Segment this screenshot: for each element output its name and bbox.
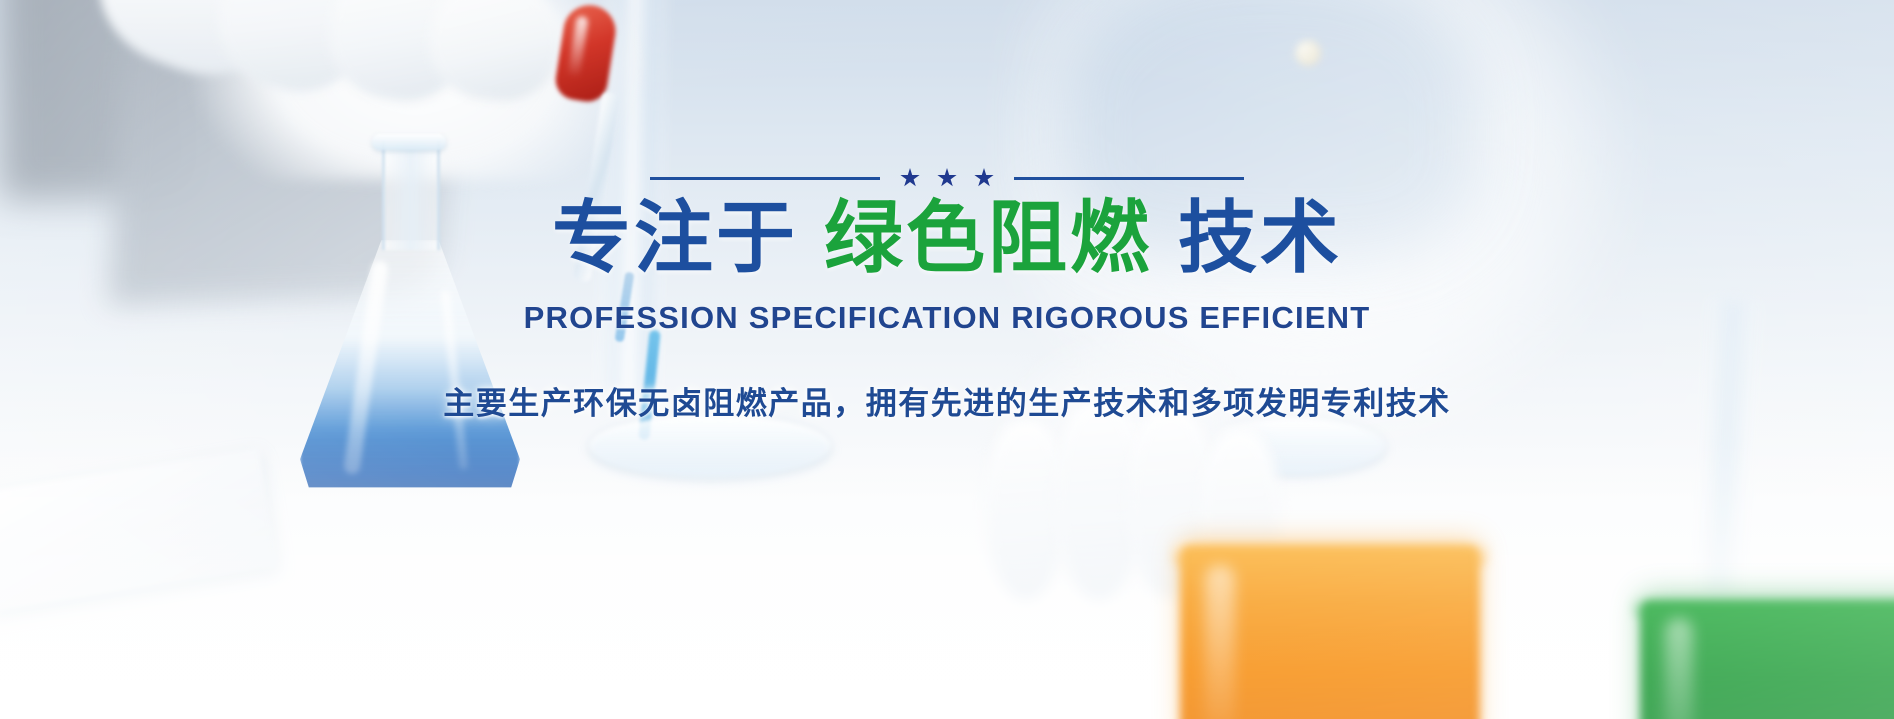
decorative-divider	[650, 168, 1244, 188]
star-icon	[900, 168, 920, 188]
headline-part-3: 技术	[1178, 193, 1342, 282]
headline-part-2: 绿色阻燃	[824, 193, 1152, 282]
divider-line-right	[1014, 177, 1244, 180]
star-group	[894, 168, 1000, 188]
page-title: 专注于绿色阻燃技术	[552, 194, 1342, 282]
tagline-chinese: 主要生产环保无卤阻燃产品，拥有先进的生产技术和多项发明专利技术	[443, 378, 1451, 423]
subtitle-english: PROFESSION SPECIFICATION RIGOROUS EFFICI…	[524, 300, 1371, 336]
banner-content: 专注于绿色阻燃技术 PROFESSION SPECIFICATION RIGOR…	[0, 0, 1894, 719]
star-icon	[937, 168, 957, 188]
star-icon	[974, 168, 994, 188]
lab-hero-banner: 专注于绿色阻燃技术 PROFESSION SPECIFICATION RIGOR…	[0, 0, 1894, 719]
divider-line-left	[650, 177, 880, 180]
headline-part-1: 专注于	[552, 193, 798, 282]
